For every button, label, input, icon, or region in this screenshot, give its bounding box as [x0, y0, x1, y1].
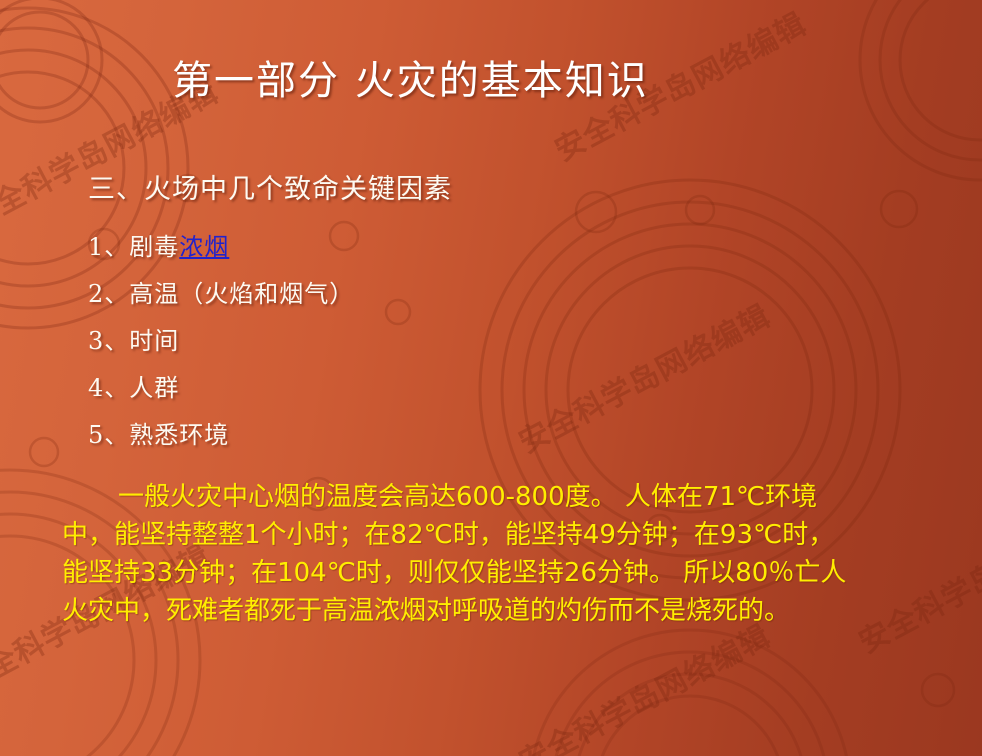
slide-title: 第一部分 火灾的基本知识 [172, 58, 649, 104]
list-item-text: 2、高温（火焰和烟气） [88, 280, 354, 308]
list-item: 3、时间 [88, 318, 354, 365]
list-item: 2、高温（火焰和烟气） [88, 271, 354, 318]
list-item-text: 4、人群 [88, 374, 179, 402]
list-item: 5、熟悉环境 [88, 412, 354, 459]
link-dense-smoke[interactable]: 浓烟 [179, 233, 229, 261]
key-factors-list: 1、剧毒浓烟 2、高温（火焰和烟气） 3、时间 4、人群 5、熟悉环境 [88, 224, 354, 459]
section-heading: 三、火场中几个致命关键因素 [88, 174, 452, 206]
slide-content: 第一部分 火灾的基本知识 三、火场中几个致命关键因素 1、剧毒浓烟 2、高温（火… [0, 0, 982, 756]
list-item-text: 1、剧毒 [88, 233, 179, 261]
body-paragraph: 一般火灾中心烟的温度会高达600-800度。 人体在71℃环境中，能坚持整整1个… [62, 478, 852, 630]
list-item: 4、人群 [88, 365, 354, 412]
list-item-text: 5、熟悉环境 [88, 421, 229, 449]
slide-canvas: 安全科学岛网络编辑 安全科学岛网络编辑 安全科学岛网络编辑 安全科学岛网络编辑 … [0, 0, 982, 756]
list-item: 1、剧毒浓烟 [88, 224, 354, 271]
list-item-text: 3、时间 [88, 327, 179, 355]
